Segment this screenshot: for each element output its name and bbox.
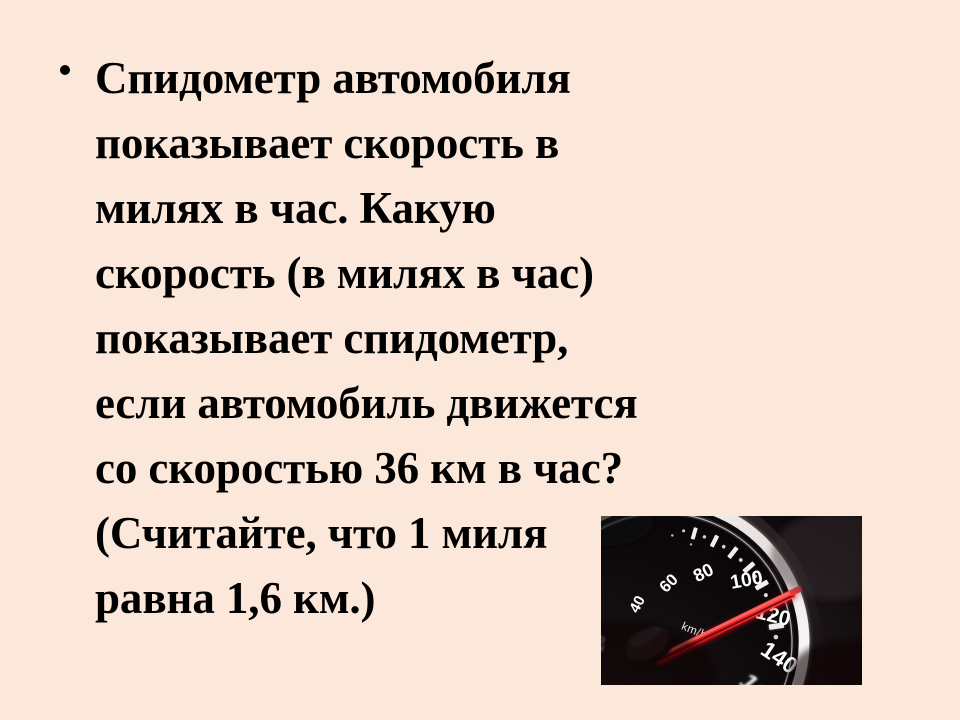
slide-canvas: Спидометр автомобиля показывает скорость… xyxy=(0,0,960,720)
speedometer-photo: 40 60 80 100 120 140 160 20 xyxy=(601,516,862,685)
problem-statement-text: Спидометр автомобиля показывает скорость… xyxy=(95,46,640,631)
speedometer-illustration: 40 60 80 100 120 140 160 20 xyxy=(601,516,862,685)
bullet-dot-icon xyxy=(60,46,95,75)
bullet-list: Спидометр автомобиля показывает скорость… xyxy=(60,46,640,631)
list-item: Спидометр автомобиля показывает скорость… xyxy=(60,46,640,631)
